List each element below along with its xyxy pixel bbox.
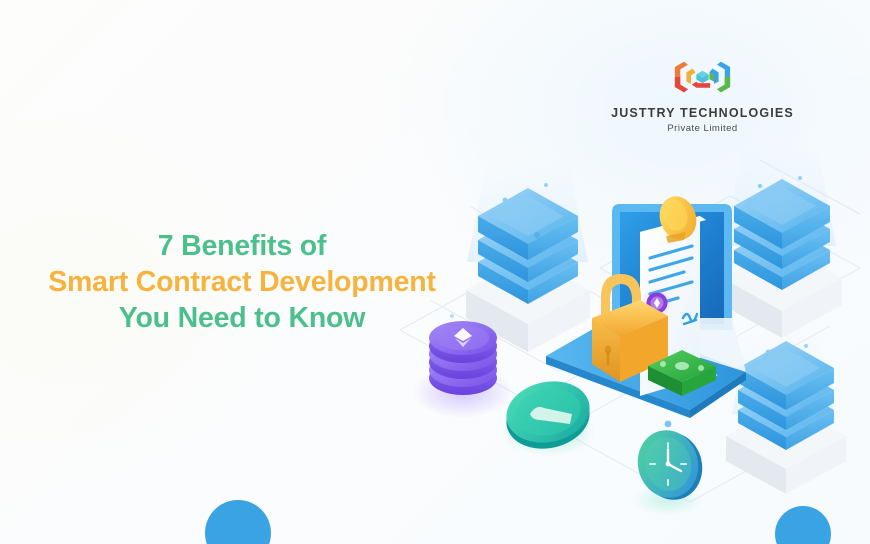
server-stack-left bbox=[466, 160, 590, 352]
teal-coin bbox=[500, 374, 596, 456]
headline-line-2: Smart Contract Development bbox=[42, 264, 442, 300]
clock bbox=[631, 424, 710, 516]
headline-line-3: You Need to Know bbox=[42, 300, 442, 336]
marketing-banner: JUSTTRY TECHNOLOGIES Private Limited 7 B… bbox=[0, 0, 870, 544]
headline: 7 Benefits of Smart Contract Development… bbox=[42, 228, 442, 336]
company-logo: JUSTTRY TECHNOLOGIES Private Limited bbox=[610, 54, 795, 134]
headline-line-1: 7 Benefits of bbox=[42, 228, 442, 264]
server-stack-top-right bbox=[722, 148, 842, 338]
company-name: JUSTTRY TECHNOLOGIES bbox=[610, 106, 795, 120]
justtry-hexagon-logo-mark bbox=[610, 54, 795, 100]
company-suffix: Private Limited bbox=[610, 123, 795, 134]
server-stack-bottom-right bbox=[726, 330, 846, 494]
